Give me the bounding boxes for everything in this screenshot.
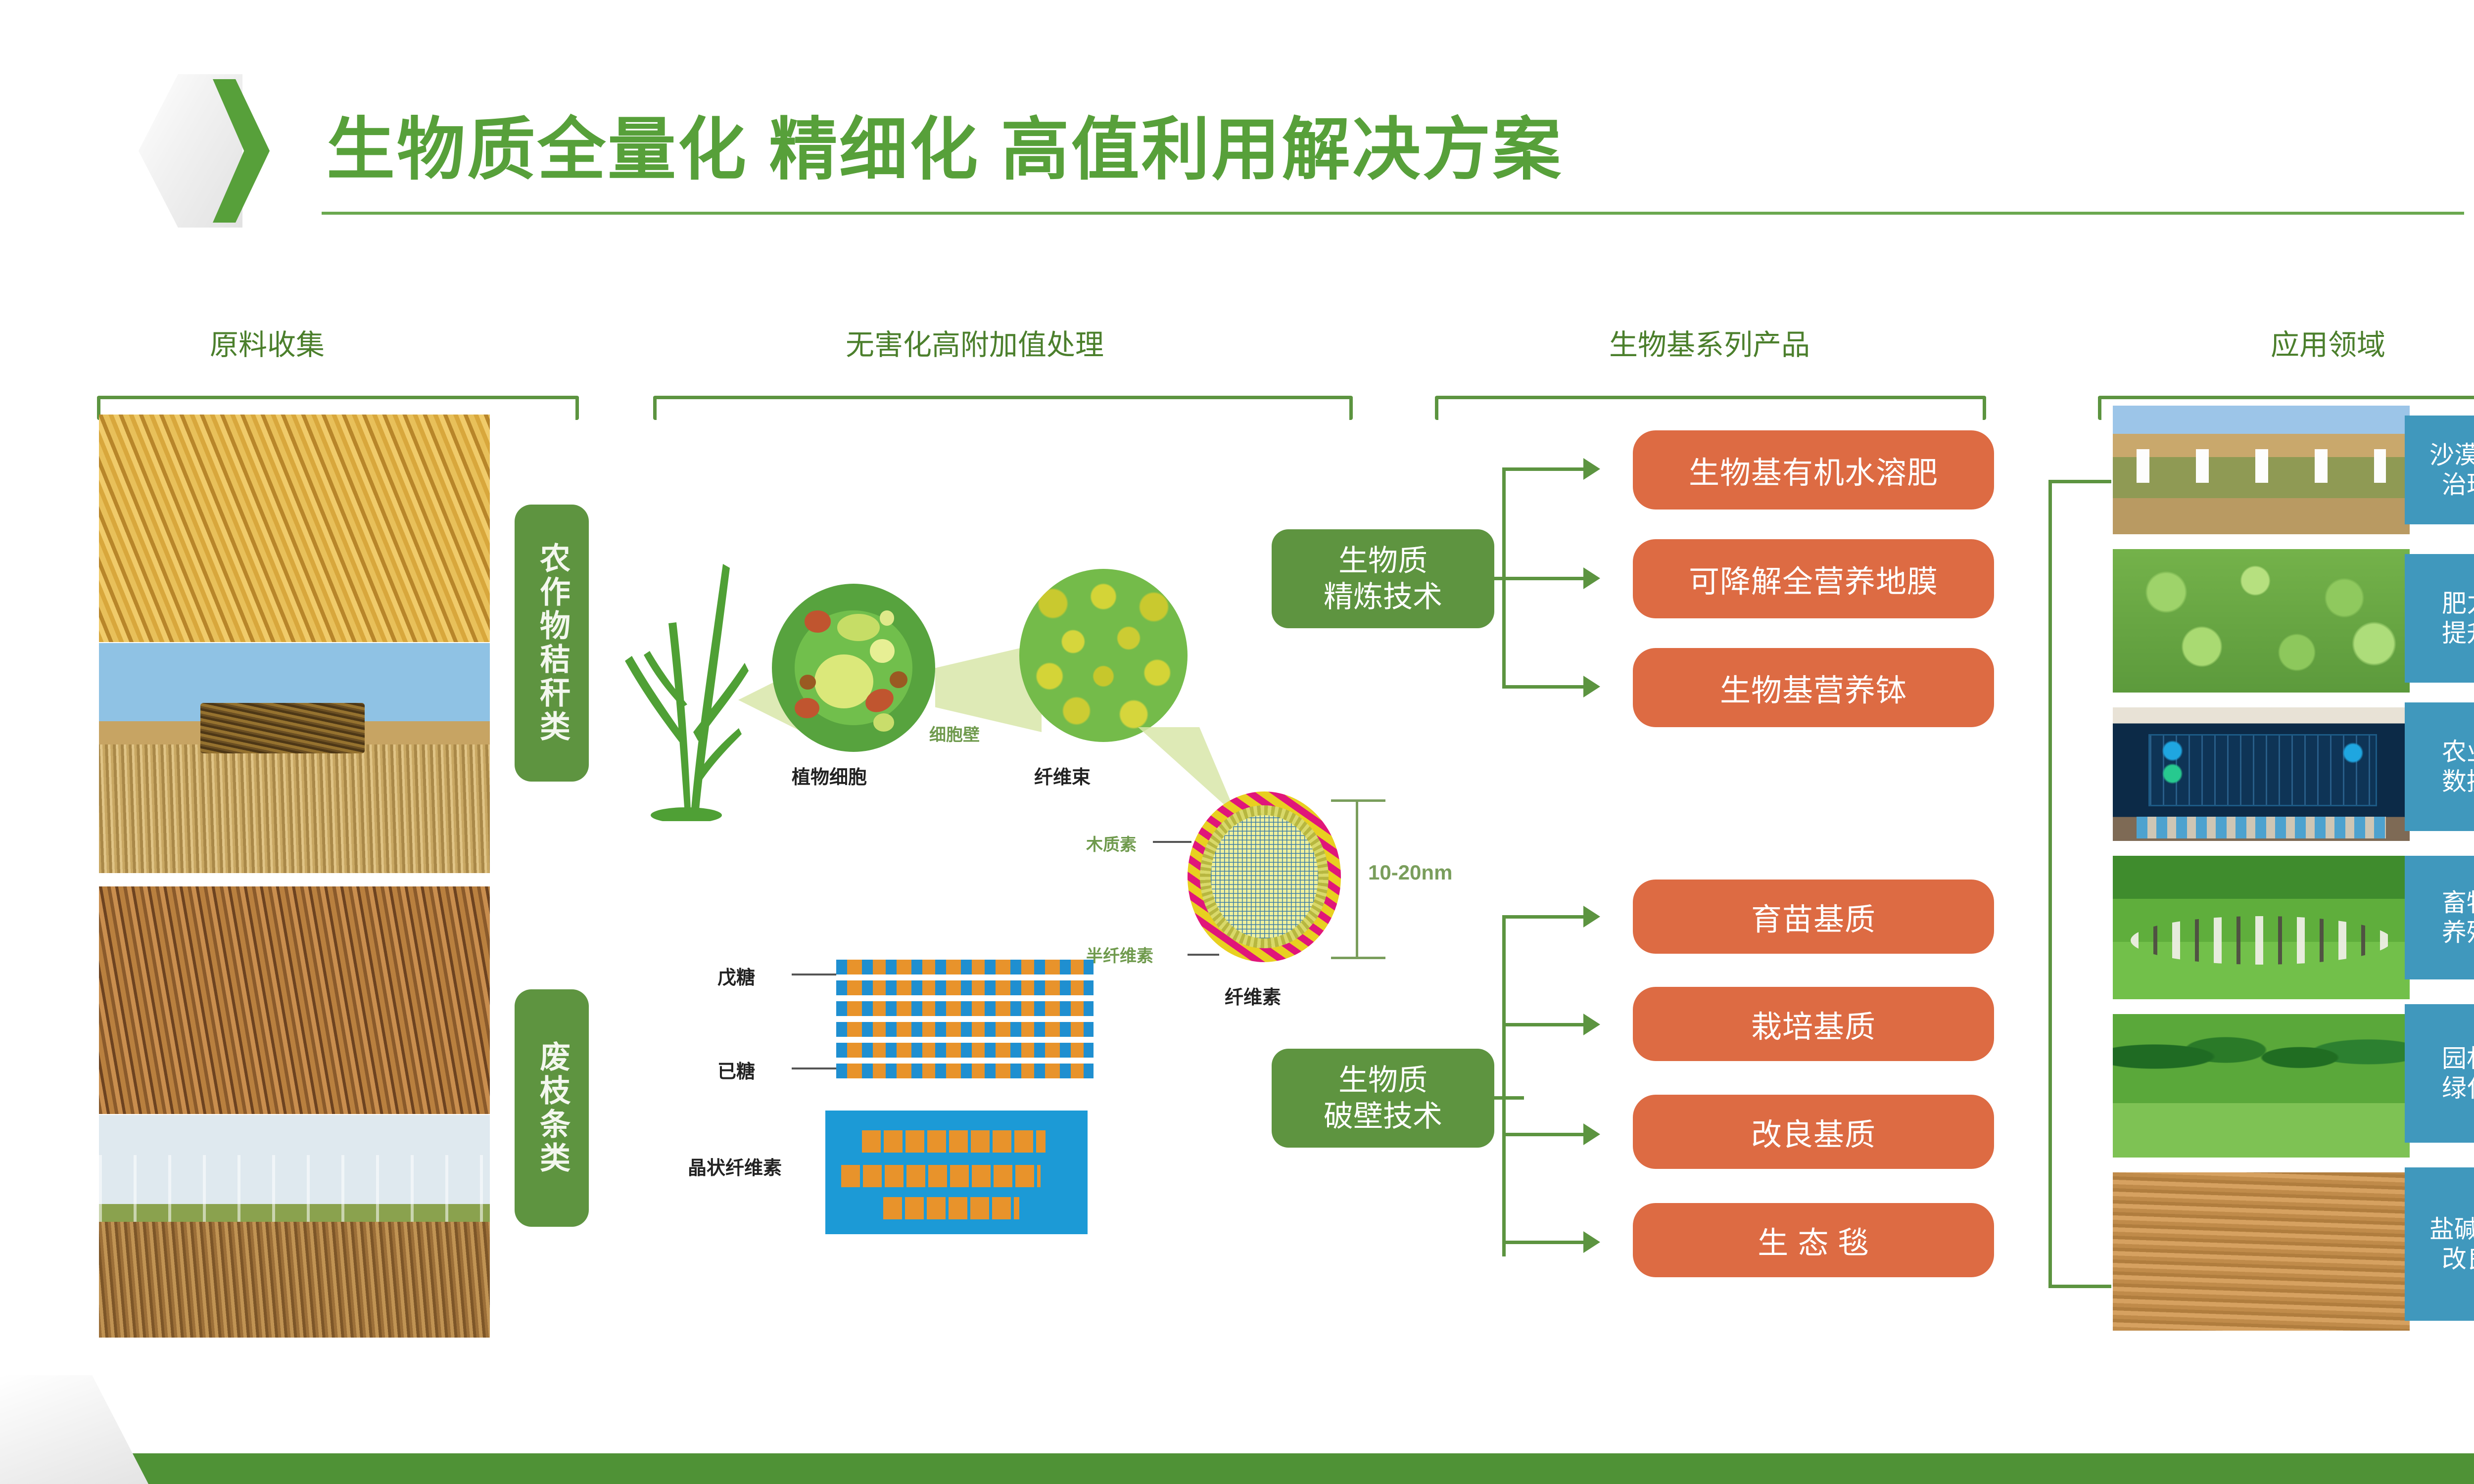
label-hexose: 已糖 bbox=[717, 1056, 755, 1083]
photo-saline-soil bbox=[2113, 1172, 2410, 1331]
app-fertility-line1: 肥力 bbox=[2442, 589, 2474, 618]
bracket-processing bbox=[653, 396, 1353, 420]
bracket-products bbox=[1435, 396, 1986, 420]
app-data-line1: 农业 bbox=[2442, 737, 2474, 767]
label-fiber-bundle: 纤维束 bbox=[1034, 762, 1091, 789]
scale-tick-bottom bbox=[1331, 957, 1385, 959]
fiber-bundle-illustration bbox=[1019, 569, 1188, 742]
product-improvement-substrate[interactable]: 改良基质 bbox=[1633, 1095, 1994, 1169]
tech-box-wall-breaking[interactable]: 生物质 破壁技术 bbox=[1272, 1049, 1494, 1148]
application-tag-fertility-improvement[interactable]: 肥力 提升 bbox=[2405, 554, 2474, 683]
app-desert-line2: 治理 bbox=[2442, 470, 2474, 500]
photo-straw-bale-field bbox=[99, 643, 490, 873]
connector-wallbreak-branch-1 bbox=[1502, 915, 1586, 919]
application-tag-saline-alkali-improvement[interactable]: 盐碱地 改良 bbox=[2405, 1167, 2474, 1321]
fiber-cross-section-illustration bbox=[1188, 791, 1341, 962]
app-greening-line2: 绿化 bbox=[2442, 1073, 2474, 1103]
tech-wallbreak-line1: 生物质 bbox=[1338, 1062, 1427, 1098]
arrow-refining-1 bbox=[1583, 458, 1600, 480]
product-bio-nutrient-pot[interactable]: 生物基营养钵 bbox=[1633, 648, 1994, 727]
connector-refining-trunk bbox=[1502, 467, 1506, 685]
bracket-applications-left bbox=[2048, 480, 2111, 1288]
magnify-cone-3 bbox=[1138, 727, 1237, 816]
photo-desert-control bbox=[2113, 406, 2410, 534]
page-title: 生物质全量化 精细化 高值利用解决方案 bbox=[327, 94, 1563, 193]
photo-sheep-pasture bbox=[2113, 856, 2410, 999]
label-cell-wall: 细胞壁 bbox=[929, 721, 980, 745]
arrow-refining-2 bbox=[1583, 567, 1600, 589]
app-greening-line1: 园林 bbox=[2442, 1044, 2474, 1073]
app-saline-line2: 改良 bbox=[2442, 1244, 2474, 1274]
app-saline-line1: 盐碱地 bbox=[2429, 1214, 2474, 1244]
photo-vineyard-pruning bbox=[99, 1115, 490, 1338]
title-divider bbox=[322, 212, 2464, 215]
label-hemicellulose: 半纤维素 bbox=[1086, 942, 1153, 967]
connector-wallbreak-branch-4 bbox=[1502, 1241, 1586, 1244]
connector-wallbreak-trunk bbox=[1502, 915, 1506, 1256]
leader-line-lignin bbox=[1153, 841, 1191, 843]
section-header-collection: 原料收集 bbox=[59, 322, 475, 363]
photo-cabbage-field bbox=[2113, 549, 2410, 693]
arrow-wallbreak-4 bbox=[1583, 1231, 1600, 1253]
connector-wallbreak-stem bbox=[1494, 1096, 1524, 1100]
label-scale-nm: 10-20nm bbox=[1368, 861, 1452, 884]
connector-refining-branch-3 bbox=[1502, 685, 1586, 689]
section-header-products: 生物基系列产品 bbox=[1425, 322, 1994, 363]
label-lignin: 木质素 bbox=[1086, 831, 1137, 855]
leader-line-pentose bbox=[792, 974, 836, 975]
arrow-wallbreak-3 bbox=[1583, 1123, 1600, 1145]
tech-refining-line1: 生物质 bbox=[1338, 543, 1427, 579]
section-header-processing: 无害化高附加值处理 bbox=[628, 322, 1321, 363]
tech-box-refining[interactable]: 生物质 精炼技术 bbox=[1272, 529, 1494, 628]
footer-corner-shape bbox=[0, 1375, 148, 1484]
sugar-lattice-illustration bbox=[836, 955, 1094, 1078]
logo-hexagon bbox=[139, 74, 252, 228]
application-tag-landscape-greening[interactable]: 园林 绿化 bbox=[2405, 1004, 2474, 1143]
app-livestock-line2: 养殖 bbox=[2442, 918, 2474, 947]
section-header-applications: 应用领域 bbox=[2068, 322, 2474, 363]
grass-plant-illustration bbox=[621, 544, 750, 821]
application-tag-agriculture-data[interactable]: 农业 数据 bbox=[2405, 702, 2474, 831]
scale-bar bbox=[1356, 800, 1358, 959]
feedstock-label-waste-branches: 废枝条类 bbox=[515, 989, 589, 1227]
feedstock-label-crop-straw: 农作物秸秆类 bbox=[515, 505, 589, 782]
connector-wallbreak-branch-2 bbox=[1502, 1023, 1586, 1026]
product-degradable-nutrient-film[interactable]: 可降解全营养地膜 bbox=[1633, 539, 1994, 618]
application-tag-desertification-control[interactable]: 沙漠化 治理 bbox=[2405, 416, 2474, 524]
product-ecological-blanket[interactable]: 生 态 毯 bbox=[1633, 1203, 1994, 1277]
arrow-refining-3 bbox=[1583, 676, 1600, 697]
label-cellulose: 纤维素 bbox=[1225, 982, 1281, 1009]
app-desert-line1: 沙漠化 bbox=[2429, 440, 2474, 470]
crystalline-cellulose-panel bbox=[825, 1111, 1088, 1234]
footer-bar bbox=[0, 1453, 2474, 1484]
product-bio-water-soluble-fertilizer[interactable]: 生物基有机水溶肥 bbox=[1633, 430, 1994, 510]
app-data-line2: 数据 bbox=[2442, 767, 2474, 796]
connector-wallbreak-branch-3 bbox=[1502, 1133, 1586, 1136]
tech-refining-line2: 精炼技术 bbox=[1324, 579, 1442, 615]
app-livestock-line1: 畜牧 bbox=[2442, 888, 2474, 918]
arrow-wallbreak-2 bbox=[1583, 1014, 1600, 1035]
label-plant-cell: 植物细胞 bbox=[792, 762, 867, 789]
product-cultivation-substrate[interactable]: 栽培基质 bbox=[1633, 987, 1994, 1061]
arrow-wallbreak-1 bbox=[1583, 906, 1600, 927]
scale-tick-top bbox=[1331, 799, 1385, 802]
app-fertility-line2: 提升 bbox=[2442, 618, 2474, 648]
leader-line-hemicellulose bbox=[1188, 954, 1219, 956]
application-tag-livestock-breeding[interactable]: 畜牧 养殖 bbox=[2405, 856, 2474, 979]
label-crystalline-cellulose: 晶状纤维素 bbox=[688, 1153, 782, 1180]
tech-wallbreak-line2: 破壁技术 bbox=[1324, 1098, 1442, 1134]
connector-refining-branch-2 bbox=[1502, 577, 1586, 580]
product-seedling-substrate[interactable]: 育苗基质 bbox=[1633, 880, 1994, 954]
photo-corn-straw-pile bbox=[99, 415, 490, 642]
photo-pruned-branches bbox=[99, 886, 490, 1114]
connector-refining-branch-1 bbox=[1502, 467, 1586, 471]
label-pentose: 戊糖 bbox=[717, 962, 755, 989]
leader-line-hexose bbox=[792, 1067, 836, 1069]
photo-data-center bbox=[2113, 707, 2410, 841]
plant-cell-illustration bbox=[772, 584, 935, 752]
photo-park-trees bbox=[2113, 1014, 2410, 1158]
